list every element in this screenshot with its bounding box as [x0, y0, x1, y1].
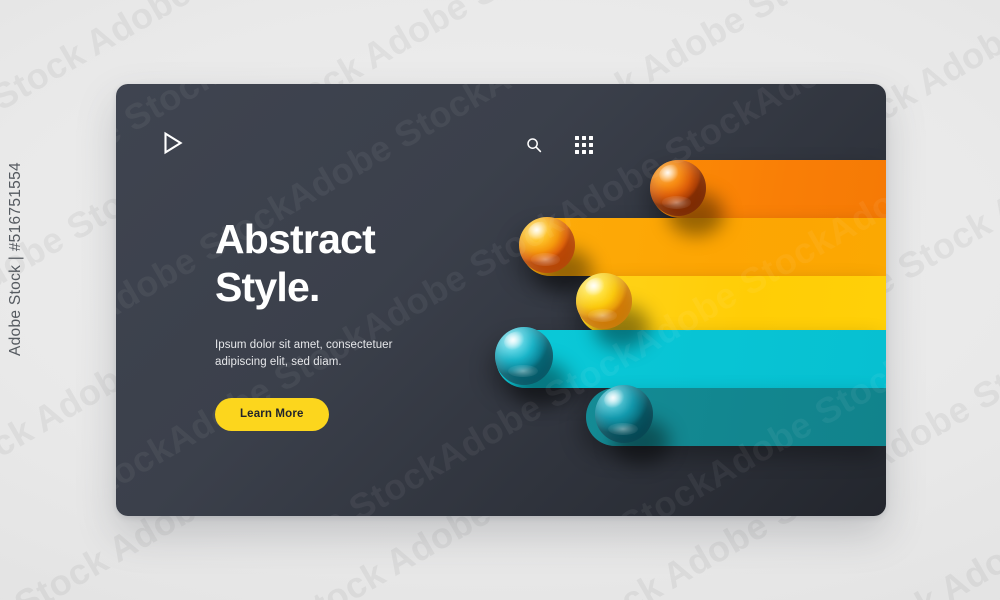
search-button[interactable]: [523, 134, 545, 156]
watermark-text: Adobe Stock: [234, 443, 450, 516]
watermark-text: Adobe Stock: [699, 348, 886, 497]
watermark-text: Adobe Stock: [355, 0, 571, 78]
page-title: Abstract Style.: [215, 215, 515, 312]
watermark-text: Adobe Stock: [504, 460, 720, 516]
watermark-text: Adobe Stock: [632, 0, 848, 91]
watermark-text: Adobe Stock: [453, 565, 669, 600]
sphere-yellow: [576, 273, 632, 329]
grid-menu-icon: [575, 136, 593, 154]
watermark-text: Adobe Stock: [116, 426, 180, 516]
bar-cyan: [496, 330, 886, 388]
card-header: [116, 84, 886, 160]
card-nav: [523, 134, 595, 156]
watermark-text: Adobe Stock: [932, 462, 1000, 600]
hero-subtitle: Ipsum dolor sit amet, consectetuer adipi…: [215, 337, 515, 371]
watermark-text: Adobe Stock: [0, 539, 115, 600]
bar-orange: [521, 218, 886, 276]
play-triangle-icon[interactable]: [160, 130, 186, 156]
sphere-shadow: [537, 249, 593, 293]
watermark-text: Adobe Stock: [176, 552, 392, 600]
search-icon: [526, 137, 542, 153]
grid-menu-button[interactable]: [573, 134, 595, 156]
watermark-text: Adobe Stock: [0, 409, 40, 558]
bar-teal: [586, 388, 886, 446]
sphere-orange: [519, 217, 575, 273]
sphere-shadow: [512, 361, 570, 407]
bar-orange-dark: [651, 160, 886, 218]
watermark-text: Adobe Stock: [78, 0, 294, 65]
watermark-text: Adobe Stock: [910, 0, 1000, 105]
hero-copy: Abstract Style. Ipsum dolor sit amet, co…: [215, 215, 515, 431]
sphere-teal: [595, 385, 653, 443]
bar-yellow: [578, 276, 886, 334]
hero-card: Adobe Stock Adobe Stock Adobe Stock Adob…: [116, 84, 886, 516]
sphere-shadow: [612, 419, 670, 465]
watermark-text: Adobe Stock: [774, 477, 886, 516]
learn-more-button[interactable]: Learn More: [215, 398, 329, 431]
sphere-shadow: [594, 305, 650, 349]
watermark-text: Adobe Stock: [624, 218, 840, 367]
sphere-shadow: [668, 192, 724, 236]
watermark-text: Adobe Stock: [985, 85, 1000, 234]
page-background: Adobe Stock Adobe Stock Adobe Stock Adob…: [0, 0, 1000, 600]
watermark-text: Adobe Stock: [730, 578, 946, 600]
watermark-text: Adobe Stock: [0, 32, 93, 181]
sphere-orange-dark: [650, 160, 706, 216]
stock-credit-label: Adobe Stock | #516751554: [7, 162, 25, 356]
